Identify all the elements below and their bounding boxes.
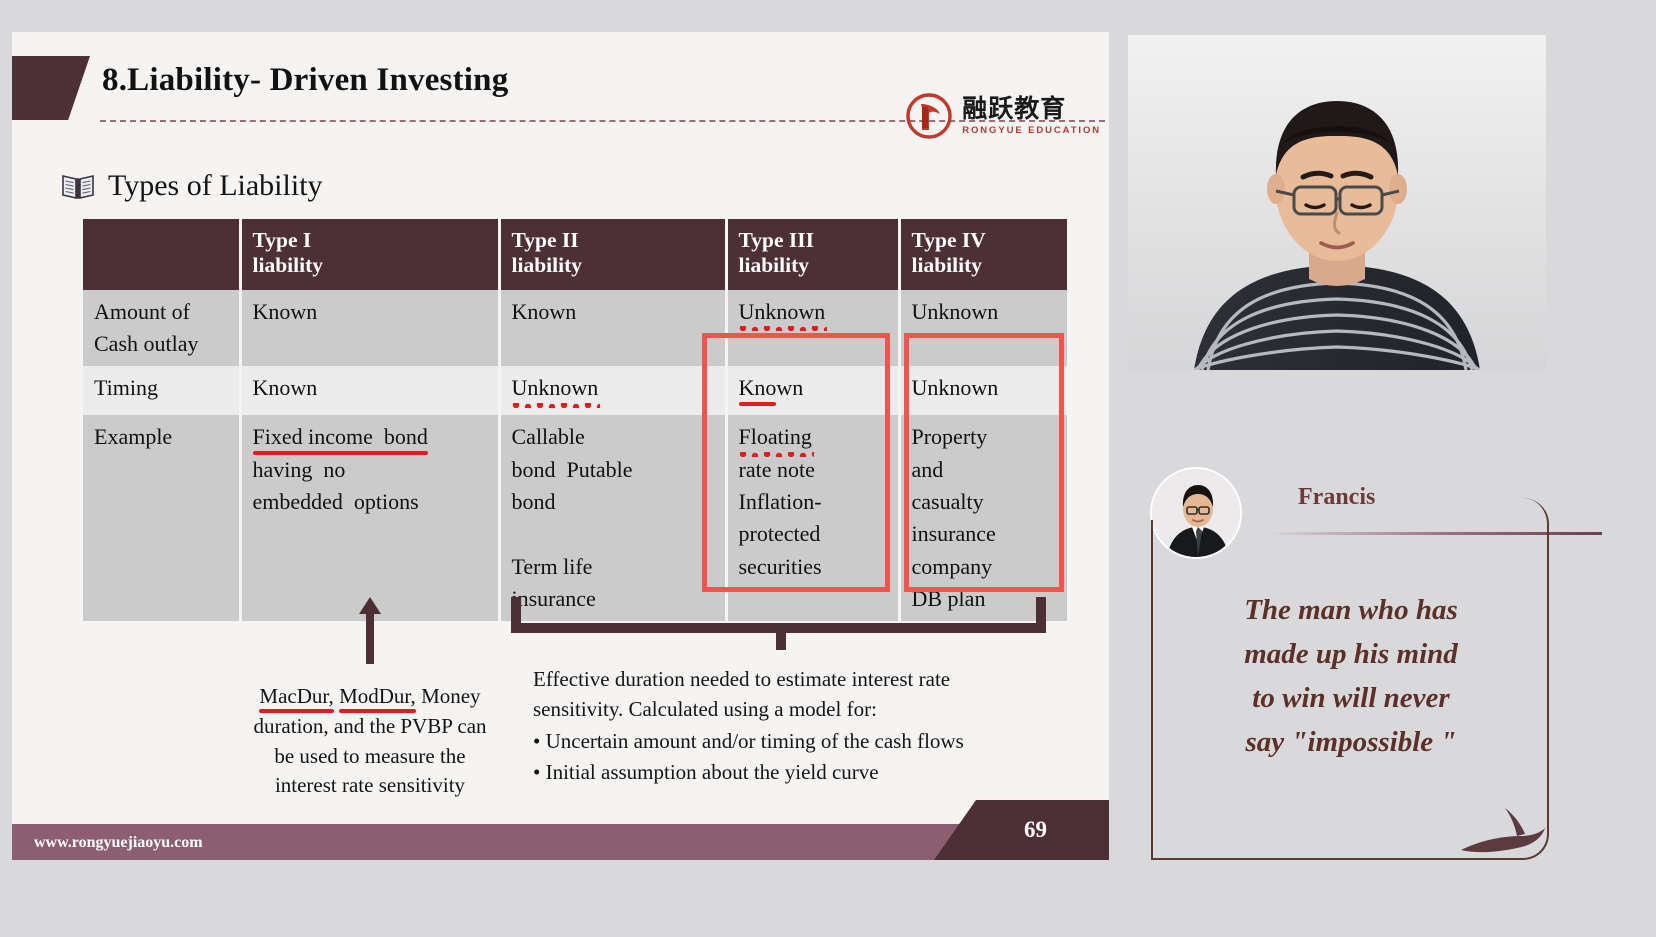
cell-timing-type2: Unknown <box>499 366 726 415</box>
left-annotation-note: MacDur, ModDur, Money duration, and the … <box>245 682 495 801</box>
quote-line-1: The man who has <box>1196 588 1506 632</box>
note-line-1: Effective duration needed to estimate in… <box>533 665 1053 695</box>
up-arrow-annotation <box>359 597 381 664</box>
quote-line-2: made up his mind <box>1196 632 1506 676</box>
motivational-quote: The man who has made up his mind to win … <box>1196 588 1506 764</box>
col-header-type-4: Type IVliability <box>899 219 1067 290</box>
note-line-2: sensitivity. Calculated using a model fo… <box>533 695 1053 725</box>
table-header-row: Type Iliability Type IIliability Type II… <box>83 219 1067 290</box>
col-header-type-2: Type IIliability <box>499 219 726 290</box>
logo-text-zh: 融跃教育 <box>962 96 1101 121</box>
section-heading: Types of Liability <box>62 169 323 203</box>
cell-example-type2: Callablebond PutablebondTerm lifeinsuran… <box>499 415 726 621</box>
quote-line-3: to win will never <box>1196 676 1506 720</box>
quote-frame-bottom-edge <box>1151 858 1451 860</box>
presenter-video[interactable] <box>1128 35 1546 370</box>
section-title: Types of Liability <box>108 169 323 203</box>
row-label-timing: Timing <box>83 366 240 415</box>
slide-canvas: 8.Liability- Driven Investing 融跃教育 RONGY… <box>12 32 1109 860</box>
whale-icon <box>1455 806 1547 858</box>
col-header-type-1: Type Iliability <box>240 219 499 290</box>
col-header-blank <box>83 219 240 290</box>
row-label-example: Example <box>83 415 240 621</box>
brand-logo: 融跃教育 RONGYUE EDUCATION <box>905 92 1101 140</box>
highlight-box-type3 <box>702 333 890 592</box>
cell-example-type1: Fixed income bondhaving noembedded optio… <box>240 415 499 621</box>
title-accent-tab <box>12 56 90 120</box>
page-number: 69 <box>934 800 1109 860</box>
right-annotation-note: Effective duration needed to estimate in… <box>533 665 1053 788</box>
cell-timing-type1: Known <box>240 366 499 415</box>
col-header-type-3: Type IIIliability <box>726 219 899 290</box>
open-book-icon <box>62 172 94 200</box>
page-title: 8.Liability- Driven Investing <box>102 62 508 99</box>
note-bullet-1: • Uncertain amount and/or timing of the … <box>533 727 1053 757</box>
note-bullet-2: • Initial assumption about the yield cur… <box>533 758 1053 788</box>
row-label-amount: Amount ofCash outlay <box>83 290 240 367</box>
screen: 8.Liability- Driven Investing 融跃教育 RONGY… <box>0 0 1656 937</box>
rongyue-bird-icon <box>905 92 953 140</box>
cell-amount-type1: Known <box>240 290 499 367</box>
highlight-box-type4 <box>904 333 1064 592</box>
presenter-figure <box>1128 35 1546 370</box>
logo-text-en: RONGYUE EDUCATION <box>962 125 1101 136</box>
quote-line-4: say "impossible " <box>1196 720 1506 764</box>
brace-annotation <box>511 597 1046 650</box>
footer-url: www.rongyuejiaoyu.com <box>34 834 203 852</box>
cell-amount-type2: Known <box>499 290 726 367</box>
quote-frame-left-edge <box>1151 520 1153 860</box>
